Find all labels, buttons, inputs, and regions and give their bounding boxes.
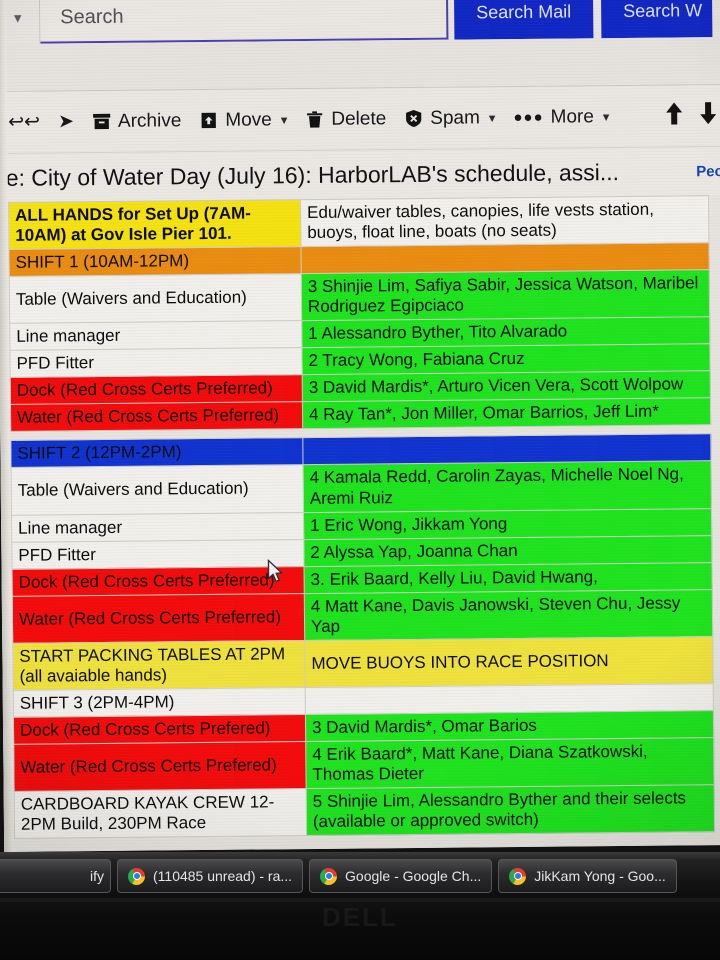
device-brand-logo: DELL (322, 902, 398, 933)
move-button[interactable]: Move ▾ (190, 109, 296, 132)
taskbar-button-label: Google - Google Ch... (345, 868, 481, 884)
cell-shift3-dock-role: Dock (Red Cross Certs Prefered) (13, 715, 305, 745)
archive-label: Archive (118, 110, 182, 133)
cell-shift1-pfd-fitter-assignment: 2 Tracy Wong, Fabiana Cruz (302, 344, 710, 375)
chrome-icon (320, 868, 337, 885)
chevron-down-icon: ▾ (601, 109, 610, 125)
taskbar-button-clipped-window[interactable]: ify (0, 859, 111, 893)
cell-shift2-table-assignment: 4 Kamala Redd, Carolin Zayas, Michelle N… (303, 461, 711, 512)
monitor-screen: ▾ Search Search Mail Search W ↩↩ ➤ Archi… (0, 0, 720, 852)
toolbar-gap (0, 37, 720, 92)
schedule-table: ALL HANDS for Set Up (7AM-10AM) at Gov I… (8, 195, 715, 839)
chevron-down-icon: ▾ (279, 112, 288, 128)
mouse-cursor (267, 559, 285, 584)
cell-shift-1-header-role: SHIFT 1 (10AM-12PM) (9, 247, 301, 277)
taskbar-button-jikkam-window[interactable]: JikKam Yong - Goo... (498, 859, 677, 893)
previous-message-button[interactable] (657, 101, 691, 131)
trash-icon (305, 110, 324, 129)
reply-all-icon: ↩↩ (8, 111, 40, 134)
table-row: Table (Waivers and Education)4 Kamala Re… (11, 461, 711, 515)
taskbar-button-google-window[interactable]: Google - Google Ch... (309, 859, 492, 893)
schedule-table-container: ALL HANDS for Set Up (7AM-10AM) at Gov I… (0, 195, 720, 852)
people-link[interactable]: Peo (696, 163, 720, 180)
table-row: Water (Red Cross Certs Prefered)4 Erik B… (14, 738, 714, 792)
arrow-down-icon (698, 105, 718, 130)
page-title: e: City of Water Day (July 16): HarborLA… (0, 159, 619, 192)
cell-shift-3-header-assignment (305, 684, 713, 715)
cell-shift1-water-assignment: 4 Ray Tan*, Jon Miller, Omar Barrios, Je… (302, 398, 710, 429)
delete-label: Delete (331, 108, 386, 131)
cell-shift2-table-role: Table (Waivers and Education) (11, 465, 303, 515)
table-row: CARDBOARD KAYAK CREW 12-2PM Build, 230PM… (14, 785, 714, 839)
windows-taskbar: ify(110485 unread) - ra...Google - Googl… (0, 852, 720, 900)
cell-start-packing-assignment: MOVE BUOYS INTO RACE POSITION (305, 636, 713, 687)
archive-button[interactable]: Archive (83, 110, 191, 133)
next-message-button[interactable] (691, 101, 720, 131)
move-icon (199, 111, 218, 130)
cell-shift2-line-manager-assignment: 1 Eric Wong, Jikkam Yong (303, 508, 711, 539)
taskbar-button-label: JikKam Yong - Goo... (534, 868, 666, 884)
cell-shift1-line-manager-assignment: 1 Alessandro Byther, Tito Alvarado (302, 317, 710, 348)
forward-arrow-icon: ➤ (58, 110, 74, 133)
cell-shift-1-header-assignment (301, 243, 709, 274)
cell-shift2-water-assignment: 4 Matt Kane, Davis Janowski, Steven Chu,… (304, 589, 712, 640)
cell-shift3-water-assignment: 4 Erik Baard*, Matt Kane, Diana Szatkows… (306, 738, 714, 789)
cell-all-hands-setup-role: ALL HANDS for Set Up (7AM-10AM) at Gov I… (8, 200, 300, 250)
more-label: More (550, 106, 594, 128)
cell-shift1-dock-assignment: 3 David Mardis*, Arturo Vicen Vera, Scot… (302, 371, 710, 402)
cell-shift3-water-role: Water (Red Cross Certs Prefered) (14, 742, 306, 792)
cell-shift2-dock-assignment: 3. Erik Baard, Kelly Liu, David Hwang, (304, 562, 712, 593)
cell-shift1-pfd-fitter-role: PFD Fitter (10, 348, 302, 378)
cell-shift2-dock-role: Dock (Red Cross Certs Preferred) (12, 566, 304, 596)
cell-shift-3-header-role: SHIFT 3 (2PM-4PM) (13, 687, 305, 717)
table-row: ALL HANDS for Set Up (7AM-10AM) at Gov I… (8, 196, 708, 250)
reply-all-button[interactable]: ↩↩ (0, 110, 49, 133)
cell-shift2-water-role: Water (Red Cross Certs Preferred) (12, 593, 304, 643)
chrome-icon (128, 868, 145, 885)
cell-shift1-table-assignment: 3 Shinjie Lim, Safiya Sabir, Jessica Wat… (301, 270, 709, 321)
forward-button[interactable]: ➤ (49, 110, 83, 133)
cell-shift1-table-role: Table (Waivers and Education) (9, 274, 301, 324)
laptop-body: DELL (0, 898, 720, 960)
chrome-icon (509, 868, 526, 885)
cell-shift-2-header-role: SHIFT 2 (12PM-2PM) (11, 438, 303, 468)
taskbar-button-label: ify (90, 868, 104, 884)
cell-shift-2-header-assignment (303, 434, 711, 465)
mail-toolbar: ↩↩ ➤ Archive Move ▾ (0, 85, 720, 154)
cell-shift1-line-manager-role: Line manager (10, 321, 302, 351)
arrow-up-icon (664, 105, 684, 130)
cell-all-hands-setup-assignment: Edu/waiver tables, canopies, life vests … (300, 196, 708, 247)
table-row: Table (Waivers and Education)3 Shinjie L… (9, 270, 709, 324)
cell-cardboard-kayak-role: CARDBOARD KAYAK CREW 12-2PM Build, 230PM… (14, 789, 306, 839)
cell-cardboard-kayak-assignment: 5 Shinjie Lim, Alessandro Byther and the… (306, 785, 714, 836)
table-row: START PACKING TABLES AT 2PM (all avaiabl… (13, 636, 713, 690)
cell-shift1-water-role: Water (Red Cross Certs Preferred) (10, 402, 302, 432)
ellipsis-icon: ●●● (513, 109, 543, 126)
chevron-down-icon: ▾ (487, 110, 496, 126)
move-label: Move (225, 109, 272, 131)
spam-button[interactable]: Spam ▾ (395, 107, 504, 130)
delete-button[interactable]: Delete (296, 108, 395, 131)
spam-shield-icon (404, 109, 423, 128)
cell-shift2-pfd-fitter-role: PFD Fitter (12, 539, 304, 569)
table-row: Water (Red Cross Certs Preferred)4 Matt … (12, 589, 712, 643)
cell-shift3-dock-assignment: 3 David Mardis*, Omar Barios (305, 711, 713, 742)
taskbar-button-mail-window[interactable]: (110485 unread) - ra... (117, 859, 303, 893)
archive-icon (92, 112, 111, 131)
search-mail-button[interactable]: Search Mail (454, 0, 594, 40)
cell-shift2-line-manager-role: Line manager (11, 512, 303, 542)
more-button[interactable]: ●●● More ▾ (504, 106, 618, 129)
spam-label: Spam (430, 107, 480, 129)
cell-shift2-pfd-fitter-assignment: 2 Alyssa Yap, Joanna Chan (304, 535, 712, 566)
search-input[interactable]: Search (40, 0, 449, 44)
cell-start-packing-role: START PACKING TABLES AT 2PM (all avaiabl… (13, 640, 305, 690)
search-web-button[interactable]: Search W (601, 0, 713, 38)
cell-shift1-dock-role: Dock (Red Cross Certs Preferred) (10, 375, 302, 405)
photo-of-screen: ▾ Search Search Mail Search W ↩↩ ➤ Archi… (0, 0, 720, 960)
taskbar-button-label: (110485 unread) - ra... (153, 868, 292, 884)
